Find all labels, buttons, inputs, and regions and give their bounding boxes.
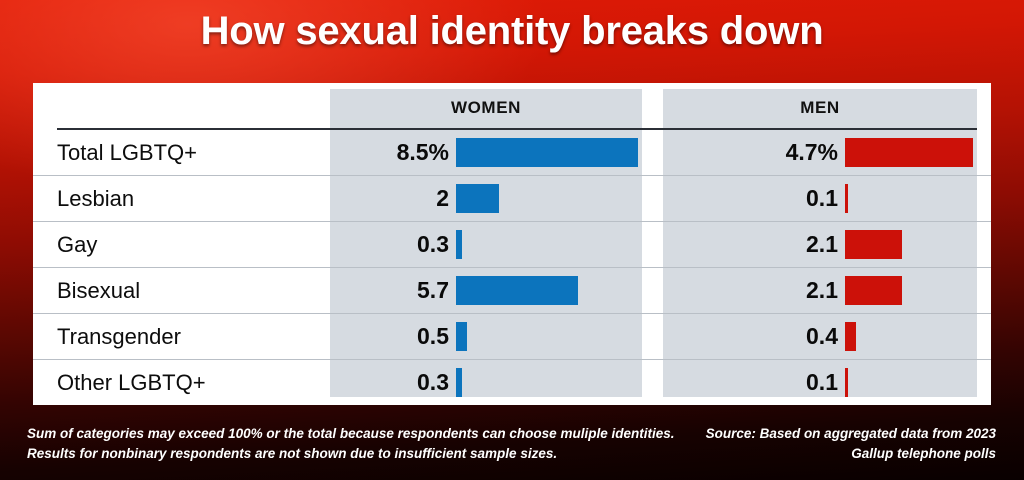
table-body: Total LGBTQ+8.5%4.7%Lesbian20.1Gay0.32.1… [33,130,991,405]
women-cell: 0.3 [330,360,642,405]
women-bar [456,230,462,259]
men-value: 2.1 [663,222,838,267]
column-header-women: WOMEN [330,97,642,119]
men-cell: 2.1 [663,222,977,267]
women-bar [456,276,578,305]
column-header-men: MEN [663,97,977,119]
row-label: Lesbian [57,176,134,221]
footnote-text: Sum of categories may exceed 100% or the… [27,424,707,464]
women-cell: 5.7 [330,268,642,313]
men-bar-track [845,130,973,175]
table-row: Gay0.32.1 [33,222,991,268]
women-bar-track [456,360,638,405]
women-cell: 0.5 [330,314,642,359]
women-cell: 8.5% [330,130,642,175]
men-bar-track [845,360,973,405]
women-bar-track [456,130,638,175]
women-bar-track [456,314,638,359]
men-bar-track [845,222,973,267]
women-bar [456,184,499,213]
source-text: Source: Based on aggregated data from 20… [696,424,996,464]
men-bar-track [845,176,973,221]
men-value: 2.1 [663,268,838,313]
table-row: Lesbian20.1 [33,176,991,222]
data-table-card: WOMEN MEN Total LGBTQ+8.5%4.7%Lesbian20.… [33,83,991,405]
men-bar [845,138,973,167]
men-cell: 4.7% [663,130,977,175]
women-bar [456,322,467,351]
men-bar [845,230,902,259]
row-label: Transgender [57,314,181,359]
table-row: Bisexual5.72.1 [33,268,991,314]
women-bar-track [456,176,638,221]
men-bar [845,322,856,351]
row-label: Gay [57,222,97,267]
men-value: 4.7% [663,130,838,175]
men-cell: 0.1 [663,176,977,221]
women-bar [456,368,462,397]
men-value: 0.4 [663,314,838,359]
table-row: Transgender0.50.4 [33,314,991,360]
men-value: 0.1 [663,176,838,221]
women-value: 0.3 [330,360,449,405]
men-bar-track [845,268,973,313]
men-cell: 0.4 [663,314,977,359]
men-value: 0.1 [663,360,838,405]
men-bar [845,276,902,305]
men-bar-track [845,314,973,359]
infographic-poster: How sexual identity breaks down WOMEN ME… [0,0,1024,480]
women-bar-track [456,222,638,267]
women-cell: 2 [330,176,642,221]
table-row: Total LGBTQ+8.5%4.7% [33,130,991,176]
women-cell: 0.3 [330,222,642,267]
women-value: 0.5 [330,314,449,359]
women-value: 2 [330,176,449,221]
women-value: 0.3 [330,222,449,267]
women-bar-track [456,268,638,313]
page-title: How sexual identity breaks down [0,9,1024,54]
row-label: Total LGBTQ+ [57,130,197,175]
men-cell: 0.1 [663,360,977,405]
table-row: Other LGBTQ+0.30.1 [33,360,991,405]
data-table: WOMEN MEN Total LGBTQ+8.5%4.7%Lesbian20.… [33,83,991,405]
row-label: Other LGBTQ+ [57,360,206,405]
women-value: 5.7 [330,268,449,313]
row-label: Bisexual [57,268,140,313]
men-bar [845,368,848,397]
women-bar [456,138,638,167]
men-cell: 2.1 [663,268,977,313]
women-value: 8.5% [330,130,449,175]
men-bar [845,184,848,213]
